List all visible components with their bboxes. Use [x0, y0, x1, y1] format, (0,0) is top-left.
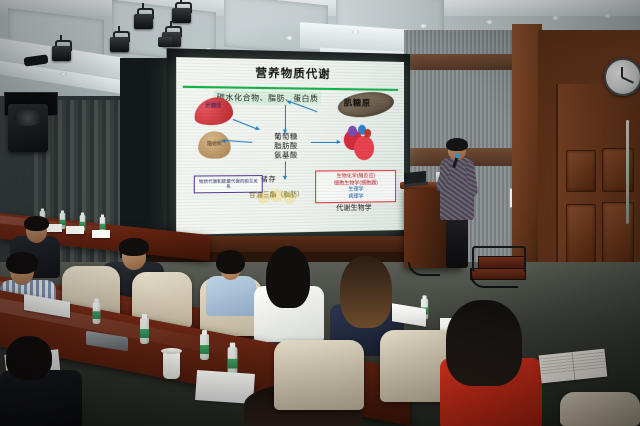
attendee-center-left [206, 250, 258, 312]
liver-label: 肝糖原 [198, 104, 228, 110]
attendee-hair [266, 246, 310, 308]
water-bottle [140, 318, 149, 344]
metabolite-glucose: 葡萄糖 [254, 134, 317, 143]
coffee-cup [163, 352, 180, 379]
triglyceride-label: 甘油三酯（脂肪） [246, 191, 307, 200]
arrow-center-to-storage [285, 161, 286, 175]
laptop[interactable] [404, 171, 426, 185]
central-metabolites: 葡萄糖 脂肪酸 氨基酸 [254, 134, 317, 161]
chair [274, 340, 364, 410]
muscle-label: 肌糖原 [344, 97, 371, 108]
wall-clock [604, 58, 640, 96]
slide-title: 营养物质代谢 [176, 62, 404, 83]
attendee-torso [206, 276, 256, 316]
water-bottle [200, 334, 209, 360]
heart-illustration [342, 126, 376, 165]
name-card [66, 226, 84, 234]
arrow-liver-to-center [233, 119, 259, 130]
red-callout-box: 生物化学(酶反应) 细胞生物学(细胞器) 生理学 病理学 [315, 170, 396, 203]
attendee-hair [216, 250, 245, 274]
lecture-hall-photo: 营养物质代谢 碳水化合物、脂肪、蛋白质 肝糖原 脑组织 肌糖原 葡萄糖 脂肪酸 … [0, 0, 640, 426]
metabolite-fatty-acid: 脂肪酸 [254, 143, 317, 152]
purple-callout-box: 物质代谢和能量代谢的相互关系 [194, 175, 263, 193]
door-handle[interactable] [626, 120, 629, 224]
projection-screen: 营养物质代谢 碳水化合物、脂肪、蛋白质 肝糖原 脑组织 肌糖原 葡萄糖 脂肪酸 … [176, 57, 404, 235]
arrow-subtitle-to-center [285, 105, 286, 130]
attendee-hair [6, 336, 52, 380]
ceiling-projector [158, 37, 172, 47]
attendee-red-jacket [440, 300, 544, 426]
metabolite-amino-acid: 氨基酸 [254, 152, 317, 161]
chair [560, 392, 640, 426]
floor-cable [470, 268, 518, 288]
attendee-hair [119, 238, 149, 256]
water-bottle [93, 302, 101, 324]
attendee-hair [24, 216, 49, 231]
water-bottle [228, 347, 238, 375]
arrow-center-to-heart [311, 142, 340, 143]
slide-footer-label: 代谢生物学 [317, 202, 390, 213]
storage-label: 储存 [261, 173, 277, 183]
discipline-pathology: 病理学 [318, 193, 393, 201]
attendee-hair [446, 300, 522, 386]
presenter-hair [446, 138, 468, 151]
presenter [438, 140, 478, 268]
attendee-hair [340, 256, 392, 328]
attendee-center [254, 246, 326, 338]
attendee-front-left [0, 336, 84, 426]
presenter-legs [446, 218, 468, 268]
wall-speaker [8, 104, 48, 152]
attendee-torso [0, 370, 82, 426]
attendee-hair [6, 252, 38, 274]
